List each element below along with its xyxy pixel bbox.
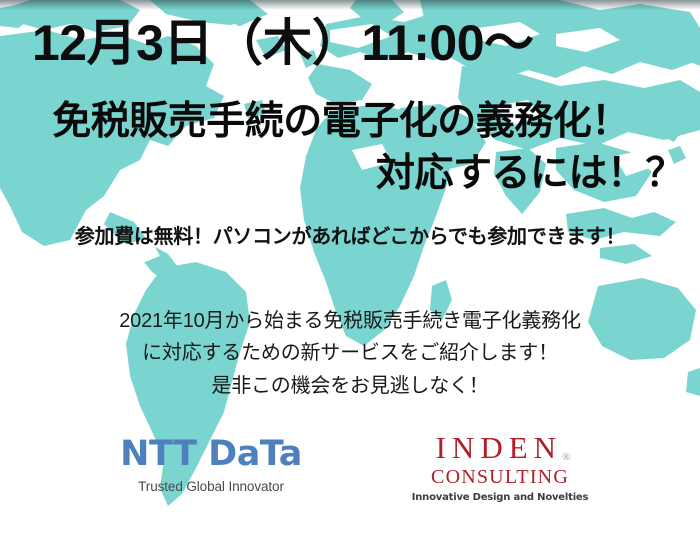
ntt-data-logo: NTT DaTa Trusted Global Innovator <box>118 437 304 494</box>
inden-tagline: Innovative Design and Novelties <box>410 492 590 503</box>
body-line-1: 2021年10月から始まる免税販売手続き電子化義務化 <box>0 305 700 337</box>
ntt-data-wordmark: NTT DaTa <box>118 437 304 472</box>
subtitle-free-admission: 参加費は無料！パソコンがあればどこからでも参加できます！ <box>0 220 700 249</box>
webinar-poster: 12月3日（木）11:00〜 免税販売手続の電子化の義務化！ 対応するには！？ … <box>0 0 700 534</box>
inden-consulting-word: CONSULTING <box>410 467 590 487</box>
registered-trademark-icon: ® <box>562 451 570 463</box>
body-text: 2021年10月から始まる免税販売手続き電子化義務化 に対応するための新サービス… <box>0 305 700 402</box>
event-date-time: 12月3日（木）11:00〜 <box>32 14 534 73</box>
inden-consulting-logo: INDEN® CONSULTING Innovative Design and … <box>410 432 590 503</box>
inden-wordmark-text: INDEN <box>436 430 562 465</box>
body-line-3: 是非この機会をお見逃しなく！ <box>0 370 700 402</box>
headline-line-1: 免税販売手続の電子化の義務化！ <box>0 100 682 144</box>
inden-wordmark: INDEN® <box>410 432 590 463</box>
ntt-data-tagline: Trusted Global Innovator <box>118 479 304 494</box>
headline-line-2: 対応するには！？ <box>0 152 684 196</box>
body-line-2: に対応するための新サービスをご紹介します！ <box>0 337 700 369</box>
